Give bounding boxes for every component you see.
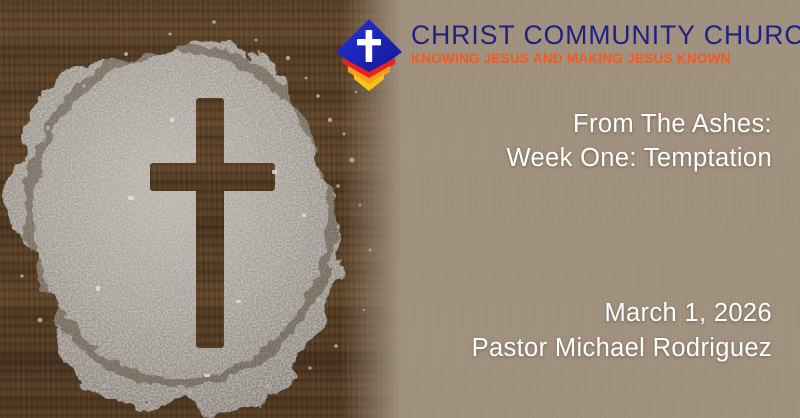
sermon-date: March 1, 2026	[472, 296, 772, 331]
church-logo-lockup: CHRIST COMMUNITY CHURCH KNOWING JESUS AN…	[333, 16, 778, 96]
sermon-slide: CHRIST COMMUNITY CHURCH KNOWING JESUS AN…	[0, 0, 800, 418]
sermon-speaker: Pastor Michael Rodriguez	[472, 331, 772, 366]
sermon-week-line: Week One: Temptation	[507, 142, 772, 176]
church-tagline: KNOWING JESUS AND MAKING JESUS KNOWN	[411, 51, 759, 67]
sermon-meta: March 1, 2026 Pastor Michael Rodriguez	[472, 296, 772, 366]
sermon-series-line: From The Ashes:	[507, 108, 772, 142]
sermon-title: From The Ashes: Week One: Temptation	[507, 108, 772, 176]
church-name: CHRIST COMMUNITY CHURCH	[411, 22, 772, 50]
church-logo-text: CHRIST COMMUNITY CHURCH KNOWING JESUS AN…	[411, 22, 772, 67]
diamond-cross-chevron-icon	[333, 16, 405, 96]
